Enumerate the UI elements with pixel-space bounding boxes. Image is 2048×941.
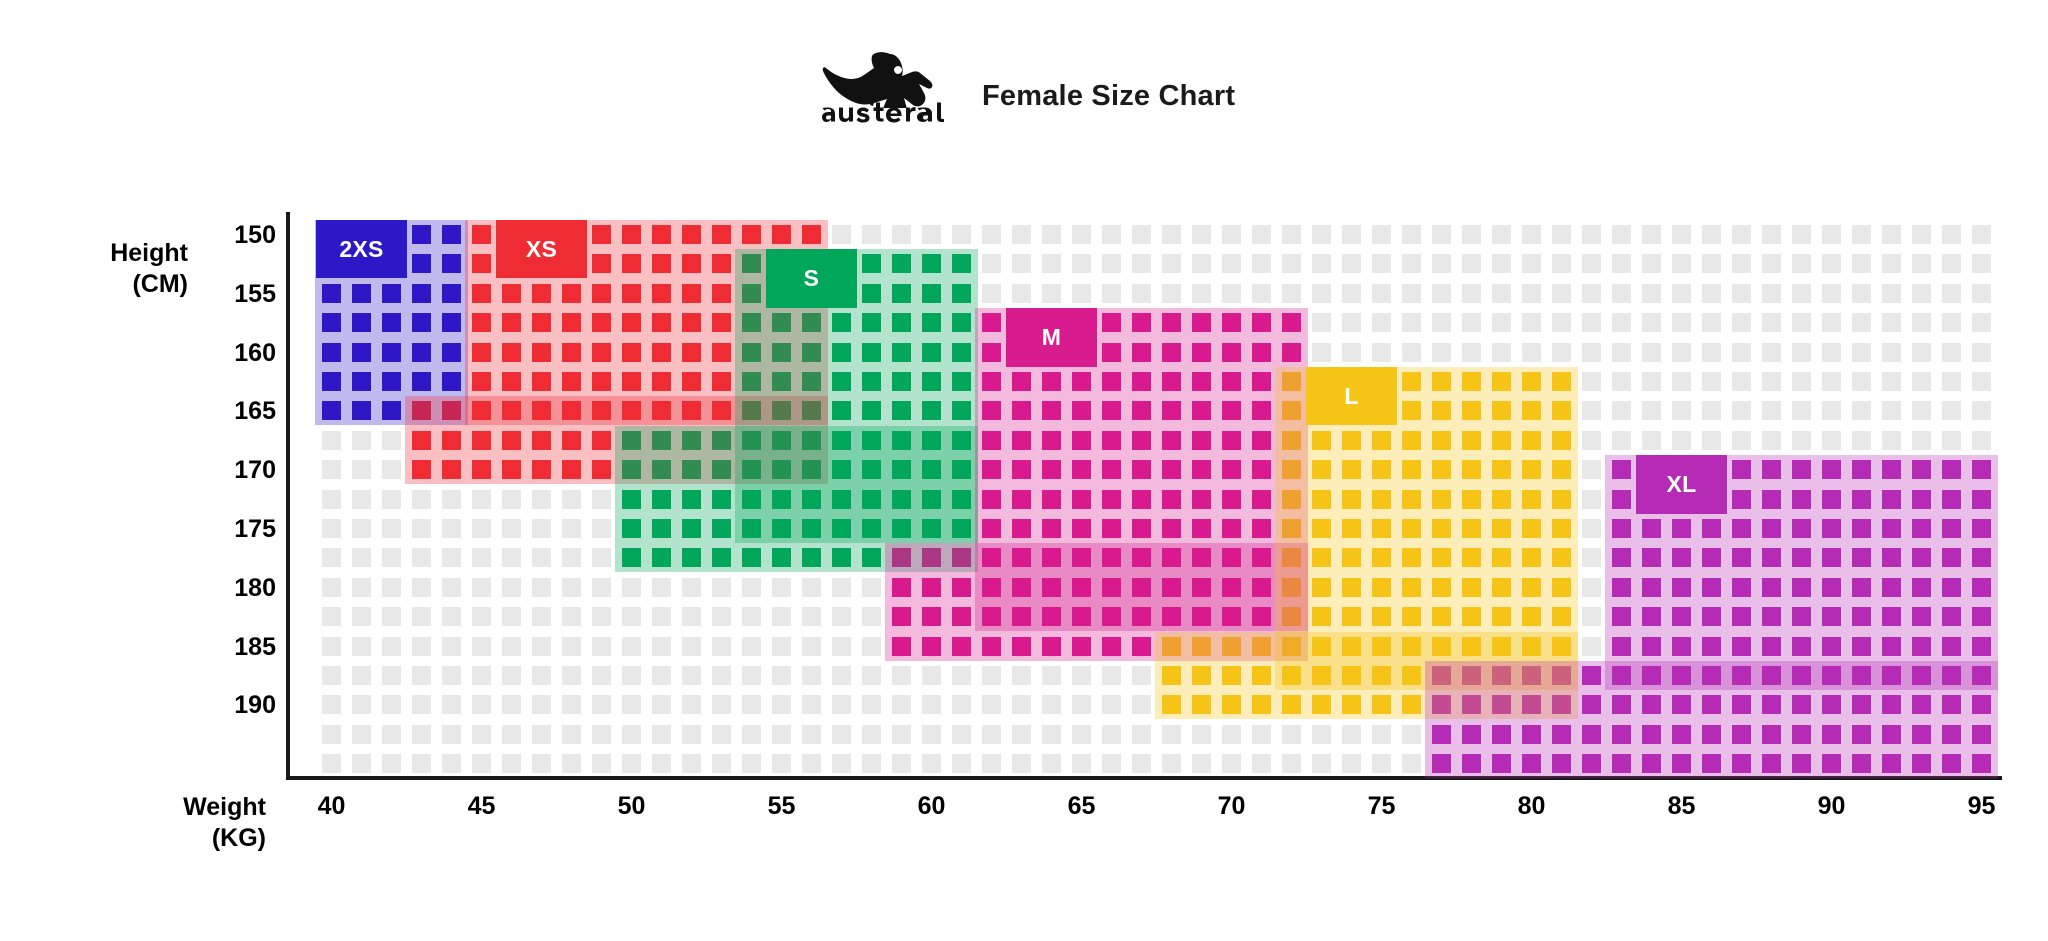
x-tick-45: 45 <box>437 792 527 821</box>
x-axis-title-line1: Weight <box>150 792 266 823</box>
brand-wordmark-icon <box>822 102 957 128</box>
x-tick-90: 90 <box>1787 792 1877 821</box>
y-axis-title-line2: (CM) <box>78 269 188 300</box>
x-tick-70: 70 <box>1187 792 1277 821</box>
x-tick-85: 85 <box>1637 792 1727 821</box>
y-tick-190: 190 <box>184 691 276 720</box>
size-badge-xs[interactable]: XS <box>496 220 587 278</box>
y-tick-160: 160 <box>184 339 276 368</box>
y-tick-165: 165 <box>184 397 276 426</box>
x-tick-75: 75 <box>1337 792 1427 821</box>
size-badge-m[interactable]: M <box>1006 308 1097 366</box>
y-tick-180: 180 <box>184 574 276 603</box>
page-title: Female Size Chart <box>982 80 1235 113</box>
chart-header: Female Size Chart <box>0 0 2048 150</box>
kangaroo-logo-icon <box>820 52 955 108</box>
y-axis-tick-labels: 150155160165170175180185190 <box>180 212 276 778</box>
y-tick-175: 175 <box>184 515 276 544</box>
y-tick-150: 150 <box>184 221 276 250</box>
size-badge-2xs[interactable]: 2XS <box>316 220 407 278</box>
x-tick-80: 80 <box>1487 792 1577 821</box>
y-axis-title: Height (CM) <box>78 238 188 300</box>
size-badge-xl[interactable]: XL <box>1636 455 1727 513</box>
size-badges-layer: 2XSXSSMLXL <box>288 212 2000 778</box>
x-tick-40: 40 <box>287 792 377 821</box>
x-tick-50: 50 <box>587 792 677 821</box>
x-tick-55: 55 <box>737 792 827 821</box>
y-axis-title-line1: Height <box>78 238 188 269</box>
x-axis-tick-labels: 404550556065707580859095 <box>288 792 2004 826</box>
x-tick-65: 65 <box>1037 792 1127 821</box>
y-tick-185: 185 <box>184 633 276 662</box>
size-badge-s[interactable]: S <box>766 249 857 307</box>
size-badge-l[interactable]: L <box>1306 367 1397 425</box>
size-chart-plot: 2XSXSSMLXL <box>288 212 2000 778</box>
y-tick-155: 155 <box>184 280 276 309</box>
x-tick-60: 60 <box>887 792 977 821</box>
y-tick-170: 170 <box>184 456 276 485</box>
x-axis-title-line2: (KG) <box>150 823 266 854</box>
x-axis-title: Weight (KG) <box>150 792 266 854</box>
x-tick-95: 95 <box>1937 792 2027 821</box>
brand-logo <box>820 52 955 130</box>
